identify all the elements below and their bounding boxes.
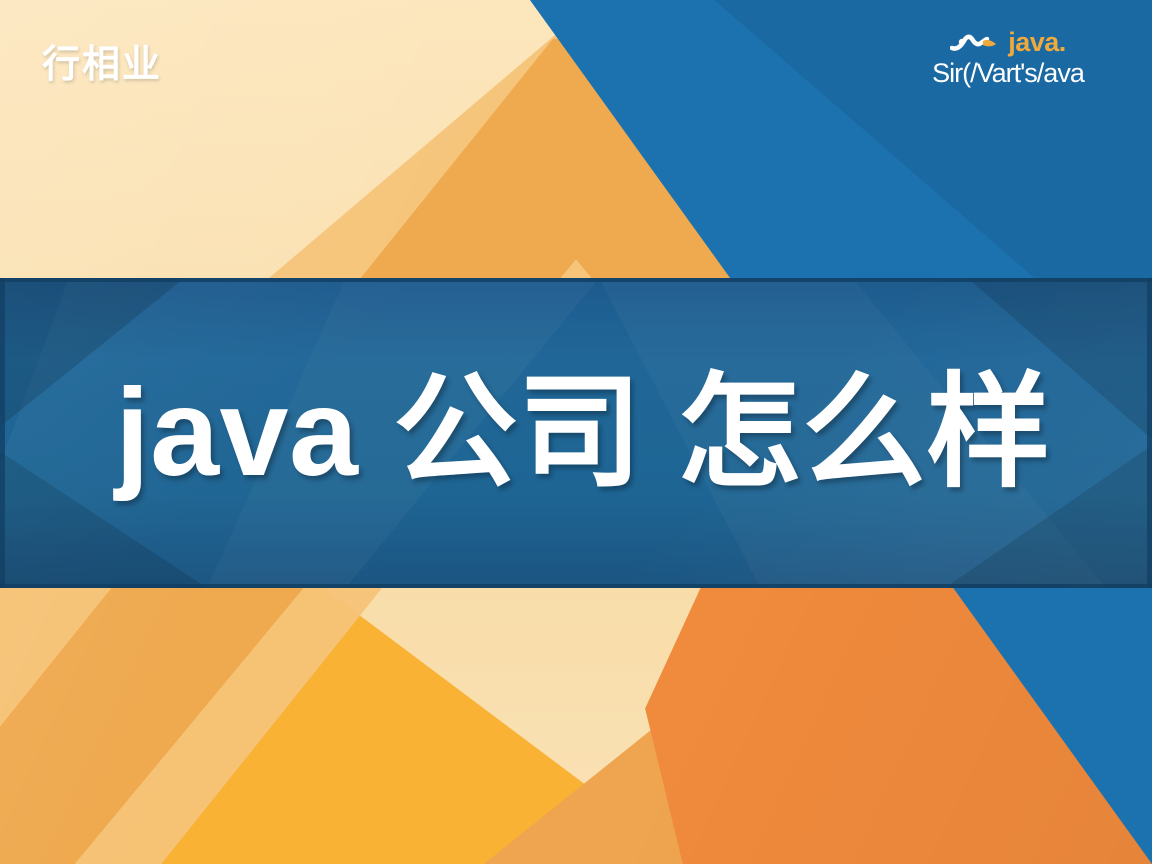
slide-kicker-text: 行相业 [42,46,162,84]
title-slide: 行相业 java. Sir(/Vart's/ava java 公司 [0,0,1152,864]
java-wave-logo-icon [950,29,1002,55]
title-band-rule-top [0,278,1152,282]
title-band: java 公司 怎么样 [0,278,1152,588]
brand-logo-row: java. [898,26,1118,58]
brand-logo: java. Sir(/Vart's/ava [898,26,1118,87]
title-band-rule-bottom [0,584,1152,588]
brand-subtitle: Sir(/Vart's/ava [898,59,1118,87]
page-title: java 公司 怎么样 [0,371,1152,495]
brand-wordmark: java. [1008,29,1066,56]
